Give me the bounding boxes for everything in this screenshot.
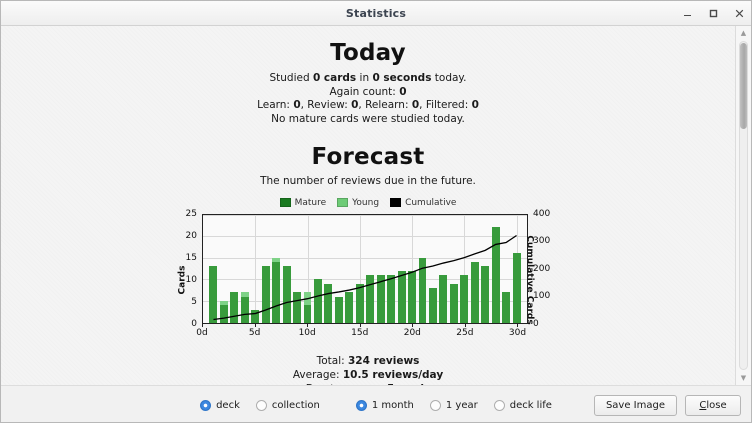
today-breakdown-text: Learn: 0, Review: 0, Relearn: 0, Filtere… <box>257 99 479 111</box>
forecast-heading: Forecast <box>1 144 735 170</box>
legend-label: Mature <box>295 198 327 208</box>
y-tick-label: 20 <box>186 231 197 241</box>
x-tick-label: 25d <box>456 328 473 338</box>
window-title: Statistics <box>346 7 406 20</box>
scrollbar-track[interactable] <box>739 41 748 370</box>
x-tick-mark <box>360 324 361 327</box>
x-tick-label: 5d <box>249 328 260 338</box>
today-studied-line: Studied 0 cards in 0 seconds today. <box>1 72 735 86</box>
radio-scope-collection[interactable]: collection <box>256 400 320 411</box>
range-radio-group: 1 month1 yeardeck life <box>356 400 552 411</box>
today-studied-suffix: today. <box>431 72 466 84</box>
x-tick-mark <box>465 324 466 327</box>
window-controls <box>681 1 745 25</box>
forecast-subtitle: The number of reviews due in the future. <box>1 175 735 189</box>
x-tick-label: 30d <box>509 328 526 338</box>
footer-bar: deckcollection 1 month1 yeardeck life Sa… <box>1 385 751 423</box>
legend-label: Cumulative <box>405 198 456 208</box>
legend-item-mature: Mature <box>280 198 327 208</box>
x-tick-mark <box>202 324 203 327</box>
today-again-label: Again count: <box>329 86 399 98</box>
today-heading: Today <box>1 40 735 66</box>
y2-tick-label: 100 <box>533 291 550 301</box>
radio-scope-deck[interactable]: deck <box>200 400 240 411</box>
forecast-chart: Cards Cumulative Cards 0510152025 010020… <box>168 214 568 346</box>
radio-dot-icon[interactable] <box>356 400 367 411</box>
cumulative-path <box>213 235 516 319</box>
y2-tick-label: 0 <box>533 319 539 329</box>
today-again-line: Again count: 0 <box>1 86 735 100</box>
radio-dot-icon[interactable] <box>494 400 505 411</box>
today-mature-line: No mature cards were studied today. <box>1 113 735 127</box>
radio-label: collection <box>272 400 320 411</box>
plot-outer: 0510152025 0100200300400 0d5d10d15d20d25… <box>202 214 528 324</box>
scroll-up-icon[interactable]: ▲ <box>736 26 751 40</box>
today-breakdown-line: Learn: 0, Review: 0, Relearn: 0, Filtere… <box>1 99 735 113</box>
legend-swatch-icon <box>337 198 348 207</box>
chart-legend: MatureYoungCumulative <box>1 198 735 208</box>
legend-item-young: Young <box>337 198 379 208</box>
average-line: Average: 10.5 reviews/day <box>1 368 735 382</box>
cumulative-line <box>203 215 527 323</box>
y2-tick-label: 200 <box>533 264 550 274</box>
save-image-button[interactable]: Save Image <box>594 395 677 416</box>
legend-label: Young <box>352 198 379 208</box>
maximize-icon[interactable] <box>707 6 719 20</box>
close-accel: C <box>699 400 706 411</box>
breakdown-number: 0 <box>472 99 479 111</box>
total-label: Total: <box>317 355 348 367</box>
close-rest: lose <box>706 400 726 411</box>
average-value: 10.5 reviews/day <box>343 369 443 381</box>
plot-area <box>202 214 528 324</box>
x-tick-label: 20d <box>404 328 421 338</box>
x-tick-mark <box>307 324 308 327</box>
x-tick-label: 0d <box>196 328 207 338</box>
x-tick-mark <box>412 324 413 327</box>
breakdown-number: 0 <box>412 99 419 111</box>
scope-radio-group: deckcollection <box>200 400 320 411</box>
radio-dot-icon[interactable] <box>200 400 211 411</box>
breakdown-number: 0 <box>293 99 300 111</box>
breakdown-number: 0 <box>351 99 358 111</box>
legend-swatch-icon <box>390 198 401 207</box>
y-tick-label: 25 <box>186 209 197 219</box>
today-studied-mid: in <box>356 72 372 84</box>
forecast-section: Forecast The number of reviews due in th… <box>1 144 735 385</box>
radio-label: deck life <box>510 400 552 411</box>
minimize-icon[interactable] <box>681 6 693 20</box>
stats-page: Today Studied 0 cards in 0 seconds today… <box>1 26 735 385</box>
y-tick-label: 10 <box>186 275 197 285</box>
scroll-down-icon[interactable]: ▼ <box>736 371 751 385</box>
y2-tick-label: 400 <box>533 209 550 219</box>
radio-label: 1 year <box>446 400 478 411</box>
legend-swatch-icon <box>280 198 291 207</box>
close-icon[interactable] <box>733 6 745 20</box>
average-label: Average: <box>293 369 343 381</box>
radio-dot-icon[interactable] <box>430 400 441 411</box>
radio-label: deck <box>216 400 240 411</box>
title-bar: Statistics <box>1 1 751 26</box>
radio-range-1-month[interactable]: 1 month <box>356 400 414 411</box>
scrollbar-thumb[interactable] <box>740 43 747 129</box>
radio-range-deck-life[interactable]: deck life <box>494 400 552 411</box>
footer-buttons: Save Image Close <box>594 395 741 416</box>
x-tick-label: 10d <box>299 328 316 338</box>
close-button[interactable]: Close <box>685 395 741 416</box>
radio-range-1-year[interactable]: 1 year <box>430 400 478 411</box>
today-studied-time: 0 seconds <box>372 72 431 84</box>
today-studied-cards: 0 cards <box>313 72 356 84</box>
y-tick-label: 15 <box>186 253 197 263</box>
total-line: Total: 324 reviews <box>1 354 735 368</box>
x-tick-label: 15d <box>351 328 368 338</box>
total-value: 324 reviews <box>348 355 419 367</box>
content-region: Today Studied 0 cards in 0 seconds today… <box>1 26 751 385</box>
statistics-window: Statistics Today Studied 0 cards in 0 se… <box>0 0 752 423</box>
y-tick-label: 5 <box>191 297 197 307</box>
legend-item-cumulative: Cumulative <box>390 198 456 208</box>
y2-tick-label: 300 <box>533 236 550 246</box>
x-tick-mark <box>255 324 256 327</box>
radio-dot-icon[interactable] <box>256 400 267 411</box>
content-scroll-viewport: Today Studied 0 cards in 0 seconds today… <box>1 26 735 385</box>
x-tick-mark <box>517 324 518 327</box>
vertical-scrollbar[interactable]: ▲ ▼ <box>735 26 751 385</box>
radio-label: 1 month <box>372 400 414 411</box>
today-again-value: 0 <box>399 86 406 98</box>
forecast-totals: Total: 324 reviews Average: 10.5 reviews… <box>1 354 735 386</box>
today-studied-prefix: Studied <box>269 72 312 84</box>
